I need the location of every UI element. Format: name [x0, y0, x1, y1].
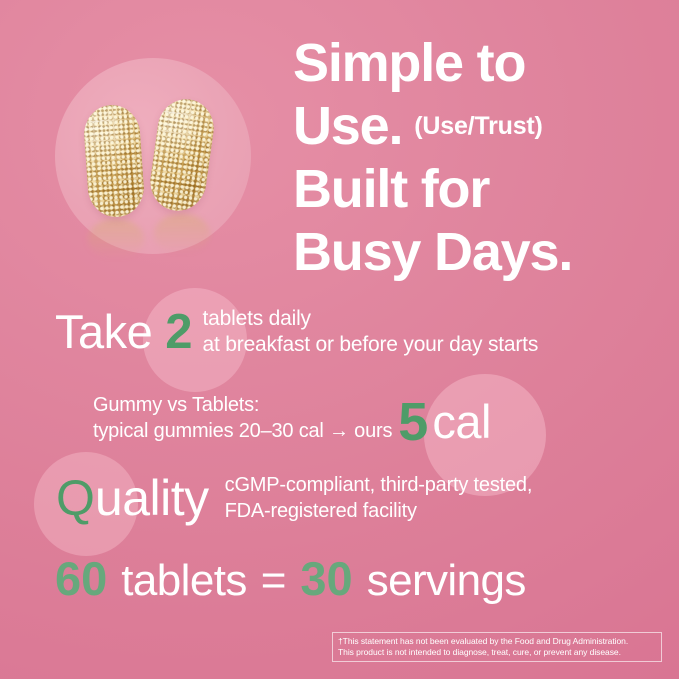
dosage-detail-line-1: tablets daily	[203, 307, 311, 330]
servings-count: 30	[300, 553, 352, 605]
tablet-reflection-left	[88, 219, 144, 259]
quality-detail-line-1: cGMP-compliant, third-party tested,	[225, 474, 533, 496]
headline-line-3: Built for	[293, 158, 673, 221]
quality-word-rest: uality	[95, 472, 209, 524]
tablets-label: tablets	[121, 555, 246, 607]
fda-disclaimer: †This statement has not been evaluated b…	[332, 632, 662, 662]
row-serving-count: 60 tablets = 30 servings	[55, 553, 540, 607]
dosage-detail-line-2: at breakfast or before your day starts	[203, 333, 539, 356]
quality-initial: Q	[56, 472, 95, 524]
headline-block: Simple to Use.(Use/Trust) Built for Busy…	[293, 32, 673, 284]
headline-line-2: Use.(Use/Trust)	[293, 95, 673, 158]
row-calorie-comparison: Gummy vs Tablets: typical gummies 20–30 …	[93, 392, 491, 444]
headline-line-1: Simple to	[293, 32, 673, 95]
dosage-count: 2	[165, 307, 192, 357]
quality-detail-line-2: FDA-registered facility	[225, 500, 417, 522]
dosage-detail: tablets daily at breakfast or before you…	[203, 306, 539, 358]
calorie-comparison-line-2: typical gummies 20–30 cal → ours	[93, 420, 392, 442]
equals-sign: =	[261, 555, 287, 607]
headline-superscript: (Use/Trust)	[414, 112, 542, 140]
calorie-unit: cal	[432, 400, 491, 444]
row-quality: Quality cGMP-compliant, third-party test…	[56, 472, 532, 524]
servings-label: servings	[367, 555, 526, 607]
tablet-reflection-right	[154, 214, 210, 254]
headline-line-2-text: Use.	[293, 96, 402, 156]
quality-detail: cGMP-compliant, third-party tested, FDA-…	[225, 472, 533, 524]
tablet-right	[146, 96, 217, 215]
dosage-label: Take	[55, 307, 152, 357]
row-dosage: Take 2 tablets daily at breakfast or bef…	[55, 306, 538, 358]
calorie-comparison-line-1: Gummy vs Tablets:	[93, 394, 259, 416]
calorie-value: 5	[398, 400, 428, 444]
marketing-infographic: Simple to Use.(Use/Trust) Built for Busy…	[0, 0, 679, 679]
fda-disclaimer-line-1: †This statement has not been evaluated b…	[338, 636, 656, 647]
fda-disclaimer-line-2: This product is not intended to diagnose…	[338, 647, 656, 658]
calorie-comparison-text: Gummy vs Tablets: typical gummies 20–30 …	[93, 392, 392, 444]
tablet-left	[82, 103, 146, 219]
product-image	[80, 95, 228, 265]
tablets-count: 60	[55, 553, 107, 605]
headline-line-4: Busy Days.	[293, 221, 673, 284]
